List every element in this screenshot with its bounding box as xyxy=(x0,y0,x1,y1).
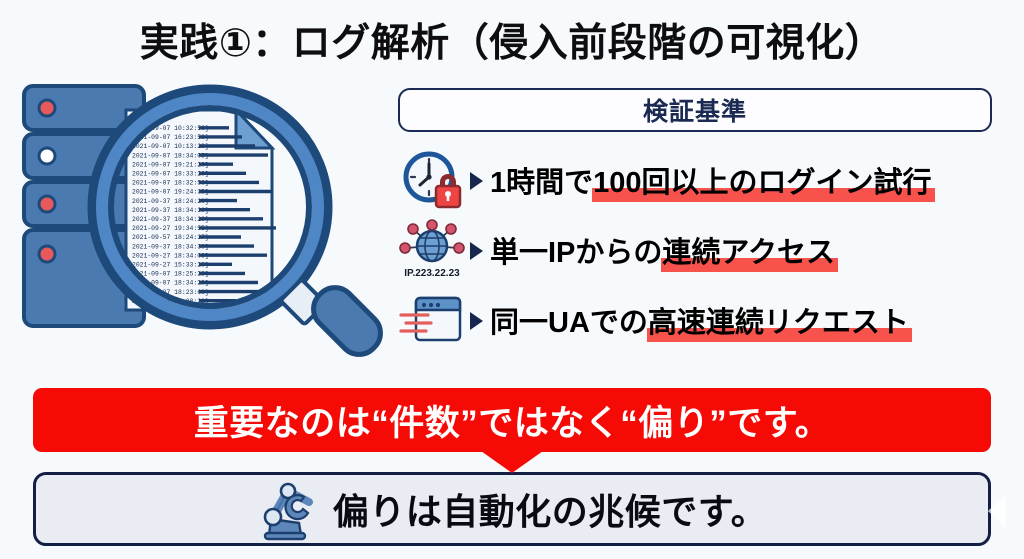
bullet-marker-icon xyxy=(470,172,483,190)
slide-canvas: 実践①：ログ解析（侵入前段階の可視化） 2021-09-07 10:32:50]… xyxy=(0,0,1024,559)
log-line: 2021-09-07 19:21:20] xyxy=(132,161,209,168)
criteria-text-highlighted: 100回以上のログイン試行 xyxy=(593,159,931,201)
browser-speed-icon xyxy=(398,288,470,352)
criteria-text-plain: 単一IPからの xyxy=(490,237,662,269)
log-line: 2021-09-07 19:24:35] xyxy=(132,189,209,196)
criteria-item-label: 単一IPからの連続アクセス xyxy=(490,229,835,271)
log-line: 2021-09-07 18:32:58] xyxy=(132,180,209,187)
globe-ip-label: IP.223.22.23 xyxy=(404,268,460,279)
server-log-magnifier-illustration: 2021-09-07 10:32:50]2021-09-07 16:23:58]… xyxy=(14,72,386,364)
log-line: 2021-09-27 18:34:08] xyxy=(132,252,209,259)
clock-lock-icon xyxy=(398,148,470,212)
robot-arm-icon xyxy=(257,477,323,541)
key-message-label: 重要なのは“件数”ではなく“偏り”です。 xyxy=(194,395,831,446)
page-title: 実践①：ログ解析（侵入前段階の可視化） xyxy=(0,12,1024,68)
criteria-item-same-ua: 同一UAでの高速連続リクエスト xyxy=(398,288,909,352)
criteria-item-login-attempts: 1時間で100回以上のログイン試行 xyxy=(398,148,932,212)
banner-down-arrow-icon xyxy=(481,451,543,473)
log-line: 2021-09-37 18:34:30] xyxy=(132,207,209,214)
criteria-item-label: 1時間で100回以上のログイン試行 xyxy=(490,159,932,201)
log-line: 2021-09-07 18:34:05] xyxy=(132,152,209,159)
criteria-header-label: 検証基準 xyxy=(643,92,747,128)
criteria-item-label: 同一UAでの高速連続リクエスト xyxy=(490,299,909,341)
next-slide-arrow-icon[interactable] xyxy=(988,494,1006,528)
log-line: 2021-09-27 19:34:55] xyxy=(132,225,209,232)
log-line: 2021-09-57 18:24:37] xyxy=(132,234,209,241)
log-line: 2021-09-37 18:34:20] xyxy=(132,216,209,223)
criteria-text-plain: 1時間で xyxy=(490,167,593,199)
criteria-text-highlighted: 高速連続リクエスト xyxy=(648,299,909,341)
conclusion-label: 偏りは自動化の兆候です。 xyxy=(333,483,767,535)
criteria-header-box: 検証基準 xyxy=(398,88,992,132)
log-line: 2021-09-27 15:33:28] xyxy=(132,262,209,269)
globe-network-icon: IP.223.22.23 xyxy=(398,218,470,282)
log-document-icon: 2021-09-07 10:32:50]2021-09-07 16:23:58]… xyxy=(126,110,276,310)
log-line: 2021-09-07 18:33:20] xyxy=(132,171,209,178)
criteria-item-single-ip: IP.223.22.23 単一IPからの連続アクセス xyxy=(398,218,835,282)
log-line: 2021-09-37 18:34:30] xyxy=(132,243,209,250)
conclusion-box: 偏りは自動化の兆候です。 xyxy=(33,472,991,546)
log-line: 2021-09-07 10:13:29] xyxy=(132,143,209,150)
bullet-marker-icon xyxy=(470,242,483,260)
criteria-text-plain: 同一UAでの xyxy=(490,307,648,339)
bullet-marker-icon xyxy=(470,312,483,330)
key-message-banner: 重要なのは“件数”ではなく“偏り”です。 xyxy=(33,388,991,452)
log-line: 2021-09-37 18:24:20] xyxy=(132,198,209,205)
criteria-text-highlighted: 連続アクセス xyxy=(662,229,835,271)
